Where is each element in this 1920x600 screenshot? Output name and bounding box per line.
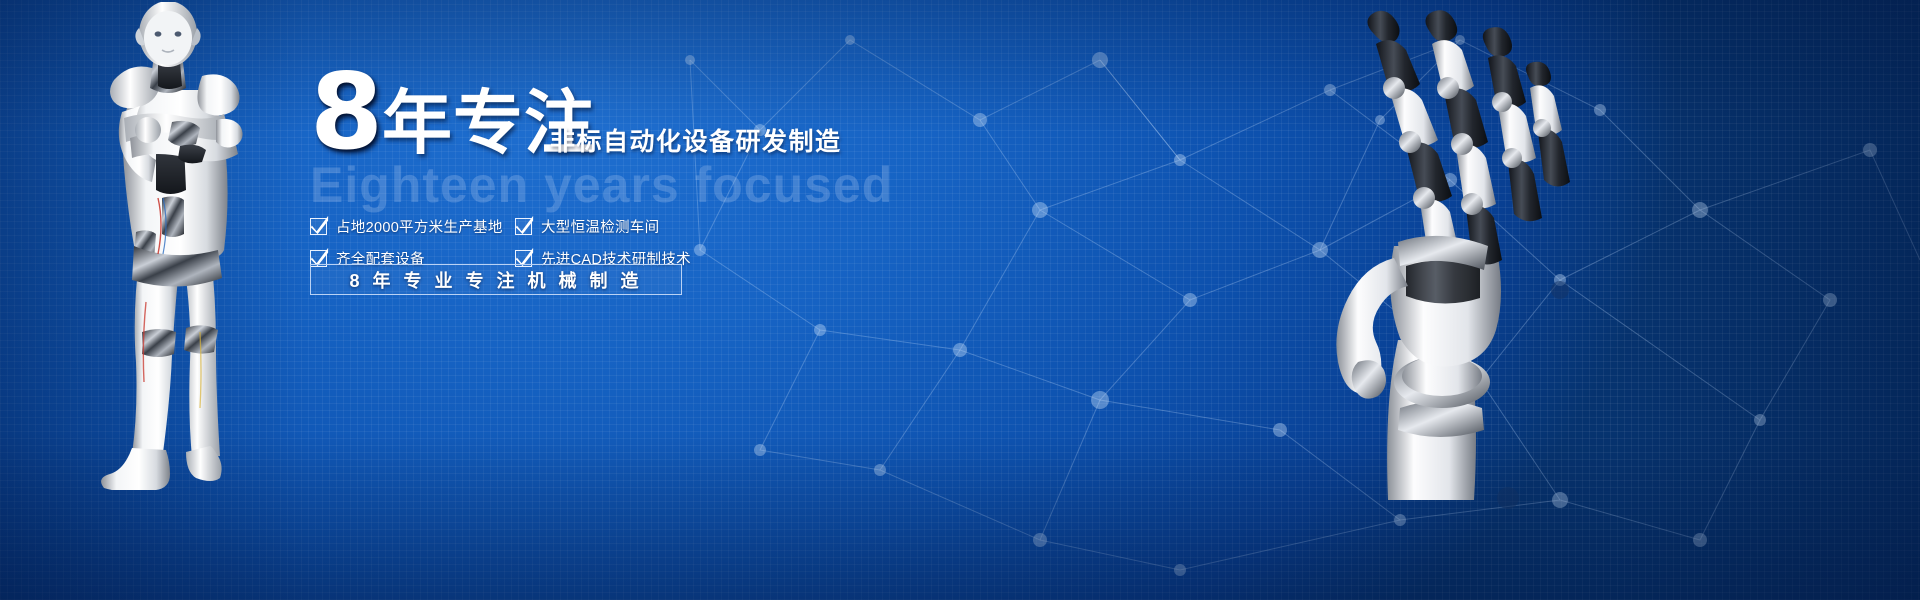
headline-subtitle: 非标自动化设备研发制造 <box>550 130 842 155</box>
banner-copy-block: 8 年专注 非标自动化设备研发制造 Eighteen years focused… <box>310 72 1070 164</box>
slogan-text: 8 年 专 业 专 注 机 械 制 造 <box>349 267 642 293</box>
feature-item: 大型恒温检测车间 <box>515 216 659 237</box>
ghost-tagline: Eighteen years focused <box>310 160 893 210</box>
promo-banner: 8 年专注 非标自动化设备研发制造 Eighteen years focused… <box>0 0 1920 600</box>
humanoid-robot-figure <box>70 2 270 490</box>
checkbox-checked-icon <box>310 218 327 235</box>
slogan-box[interactable]: 8 年 专 业 专 注 机 械 制 造 <box>310 264 682 295</box>
feature-row: 占地2000平方米生产基地 大型恒温检测车间 <box>310 210 1010 242</box>
robotic-hand-figure <box>1270 10 1580 500</box>
feature-label: 大型恒温检测车间 <box>541 216 659 237</box>
feature-item: 占地2000平方米生产基地 <box>310 216 515 237</box>
feature-label: 占地2000平方米生产基地 <box>336 216 503 237</box>
headline-number: 8 <box>310 60 381 165</box>
headline-row: 8 年专注 非标自动化设备研发制造 <box>310 72 1070 164</box>
checkbox-checked-icon <box>515 218 532 235</box>
